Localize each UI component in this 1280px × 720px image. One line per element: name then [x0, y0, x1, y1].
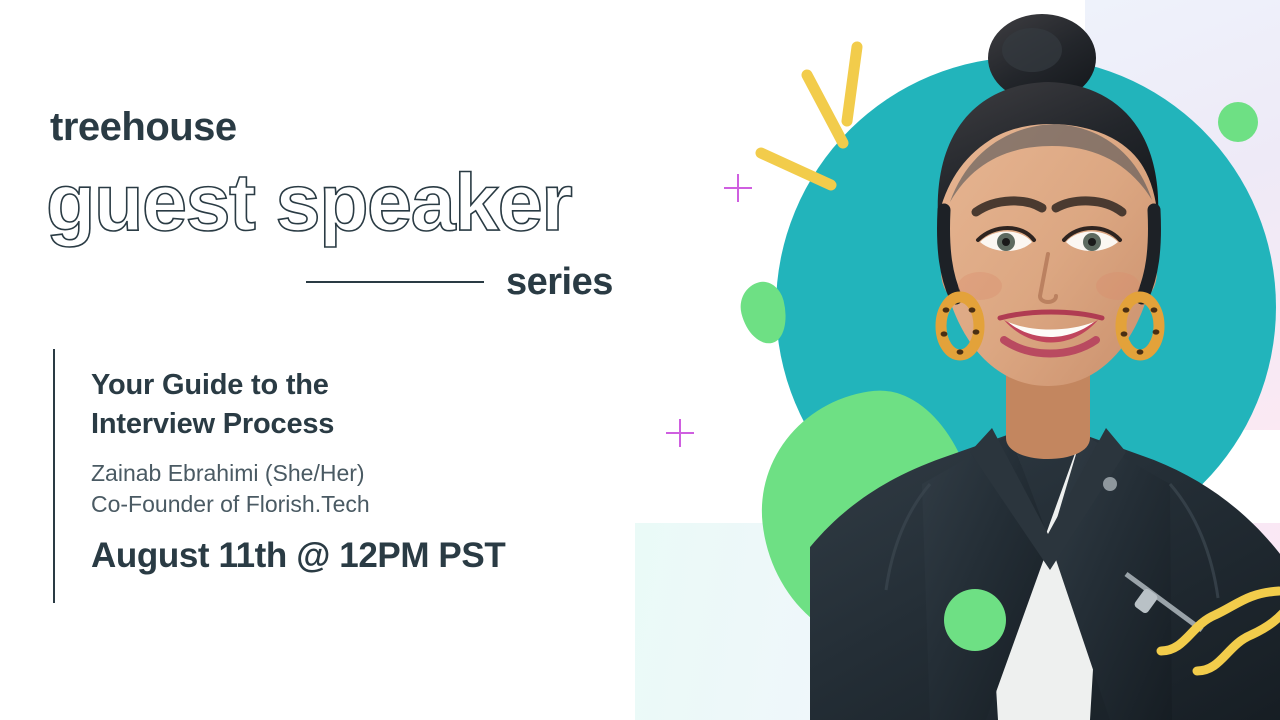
- series-label: series: [506, 263, 613, 301]
- talk-title-line-1: Your Guide to the: [91, 369, 329, 401]
- wavy-line-icon: [1155, 585, 1280, 675]
- treehouse-wordmark: treehouse: [50, 107, 237, 147]
- plus-mark-icon: [724, 174, 752, 202]
- event-datetime: August 11th @ 12PM PST: [91, 538, 621, 573]
- session-details: Your Guide to the Interview Process Zain…: [91, 366, 621, 573]
- speaker-name: Zainab Ebrahimi (She/Her): [91, 458, 621, 489]
- series-row: series: [306, 258, 624, 306]
- talk-title: Your Guide to the Interview Process: [91, 366, 621, 443]
- circle-icon: [944, 589, 1006, 651]
- plus-mark-icon: [666, 419, 694, 447]
- speaker-role: Co-Founder of Florish.Tech: [91, 489, 621, 520]
- vertical-divider: [53, 349, 55, 603]
- talk-title-line-2: Interview Process: [91, 408, 334, 440]
- divider: [306, 281, 484, 283]
- promo-graphic: treehouse guest speaker series Your Guid…: [0, 0, 1280, 720]
- page-title: guest speaker: [46, 163, 571, 244]
